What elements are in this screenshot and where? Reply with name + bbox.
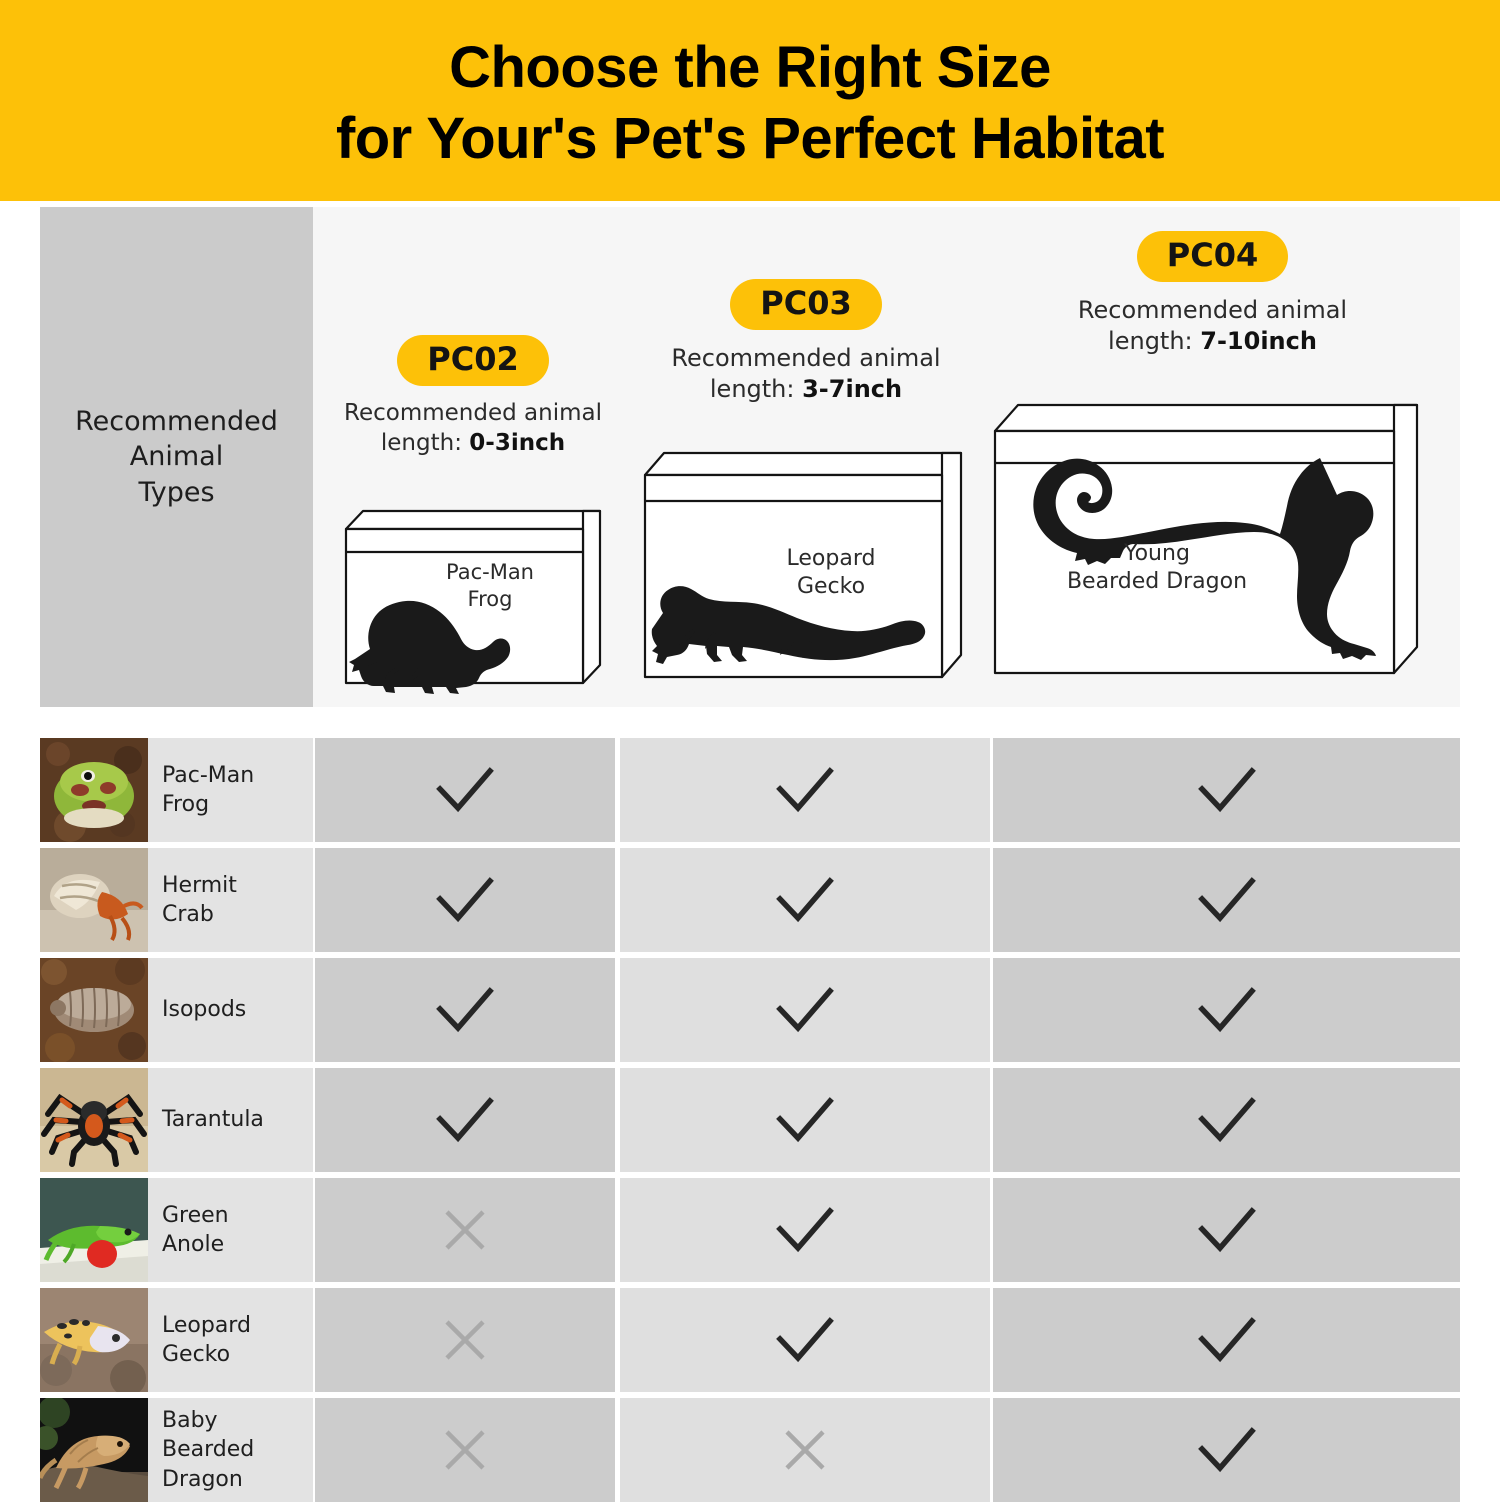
compat-cell-pc03: [620, 738, 990, 842]
table-row: GreenAnole: [0, 1178, 1500, 1282]
compat-cell-pc03: [620, 1178, 990, 1282]
tank-animal-name-line1-pc04: Young: [1123, 541, 1190, 566]
tarantula-photo: [40, 1068, 148, 1172]
animal-name-cell: Baby BeardedDragon: [148, 1398, 313, 1502]
pacman-frog-photo: [40, 738, 148, 842]
animal-name-cell: HermitCrab: [148, 848, 313, 952]
check-icon: [1196, 1425, 1258, 1475]
animal-name-line1: Hermit: [162, 873, 237, 898]
compat-cell-pc02: [315, 958, 615, 1062]
animal-name-line2: Anole: [162, 1232, 224, 1257]
check-icon: [1196, 765, 1258, 815]
tank-animal-name-line2-pc04: Bearded Dragon: [1067, 569, 1247, 594]
rec-prefix-pc02: Recommended animal: [328, 399, 618, 429]
tank-animal-name-line2-pc03: Gecko: [797, 574, 865, 599]
check-icon: [1196, 1315, 1258, 1365]
tank-animal-name-line1-pc03: Leopard: [787, 546, 876, 571]
cross-icon: [440, 1425, 490, 1475]
product-badge-pc04: PC04: [1137, 231, 1288, 282]
compat-cell-pc03: [620, 1288, 990, 1392]
animal-name-line2: Gecko: [162, 1342, 230, 1367]
compat-cell-pc02: [315, 1398, 615, 1502]
animal-name-line1: Baby Bearded: [162, 1408, 254, 1462]
check-icon: [434, 985, 496, 1035]
table-row: Pac-ManFrog: [0, 738, 1500, 842]
rec-prefix-pc04: Recommended animal: [985, 295, 1440, 326]
check-icon: [434, 765, 496, 815]
animal-name-line1: Tarantula: [162, 1107, 264, 1132]
animal-name-line1: Pac-Man: [162, 763, 254, 788]
animal-name-label: Isopods: [162, 995, 246, 1024]
tank-illustration-pc04: Young Bearded Dragon: [985, 375, 1440, 703]
tank-animal-name-line2-pc02: Frog: [468, 587, 513, 611]
product-recommendation-pc02: Recommended animal length: 0-3inch: [328, 399, 618, 459]
tank-illustration-pc03: Leopard Gecko: [631, 423, 981, 705]
rec-value-pc03: 3-7inch: [802, 375, 902, 403]
leopard-gecko-photo: [40, 1288, 148, 1392]
product-illustrations-panel: PC02 Recommended animal length: 0-3inch: [313, 207, 1460, 707]
check-icon: [774, 985, 836, 1035]
cross-icon: [440, 1315, 490, 1365]
cross-icon: [780, 1425, 830, 1475]
animal-name-cell: LeopardGecko: [148, 1288, 313, 1392]
baby-bearded-dragon-photo: [40, 1398, 148, 1502]
animal-name-label: Pac-ManFrog: [162, 761, 254, 820]
rec-value-pc02: 0-3inch: [469, 430, 565, 456]
animal-name-line2: Dragon: [162, 1467, 243, 1492]
check-icon: [774, 1315, 836, 1365]
animal-name-line2: Crab: [162, 902, 214, 927]
green-anole-photo: [40, 1178, 148, 1282]
table-row: HermitCrab: [0, 848, 1500, 952]
compat-cell-pc02: [315, 1068, 615, 1172]
compat-cell-pc03: [620, 1068, 990, 1172]
check-icon: [774, 875, 836, 925]
animal-name-cell: Tarantula: [148, 1068, 313, 1172]
animal-name-label: GreenAnole: [162, 1201, 229, 1260]
banner-title-line-2: for Your's Pet's Perfect Habitat: [336, 104, 1164, 175]
compat-cell-pc03: [620, 1398, 990, 1502]
banner-title-line-1: Choose the Right Size: [449, 33, 1051, 104]
animal-name-line1: Leopard: [162, 1313, 251, 1338]
animal-name-cell: Pac-ManFrog: [148, 738, 313, 842]
product-recommendation-pc03: Recommended animal length: 3-7inch: [631, 343, 981, 405]
check-icon: [1196, 1205, 1258, 1255]
table-row: LeopardGecko: [0, 1288, 1500, 1392]
cross-icon: [440, 1205, 490, 1255]
header-label-line-2: Animal: [75, 439, 278, 475]
table-row: Baby BeardedDragon: [0, 1398, 1500, 1502]
compat-cell-pc04: [993, 958, 1460, 1062]
tank-illustration-pc02: Pac-Man Frog: [328, 477, 618, 709]
product-recommendation-pc04: Recommended animal length: 7-10inch: [985, 295, 1440, 357]
recommended-animal-types-header: Recommended Animal Types: [40, 207, 313, 707]
compat-cell-pc02: [315, 1288, 615, 1392]
check-icon: [434, 875, 496, 925]
compat-cell-pc02: [315, 1178, 615, 1282]
animal-name-line2: Frog: [162, 792, 209, 817]
compat-cell-pc03: [620, 958, 990, 1062]
check-icon: [774, 1205, 836, 1255]
product-badge-pc02: PC02: [397, 335, 548, 386]
recommended-animal-types-label: Recommended Animal Types: [75, 404, 278, 511]
product-column-pc02[interactable]: PC02 Recommended animal length: 0-3inch: [328, 335, 618, 709]
compat-cell-pc04: [993, 1178, 1460, 1282]
page-banner: Choose the Right Size for Your's Pet's P…: [0, 0, 1500, 201]
product-comparison-header: Recommended Animal Types PC02 Recommende…: [0, 201, 1500, 707]
isopod-photo: [40, 958, 148, 1062]
table-row: Tarantula: [0, 1068, 1500, 1172]
check-icon: [774, 1095, 836, 1145]
compat-cell-pc02: [315, 738, 615, 842]
check-icon: [1196, 1095, 1258, 1145]
animal-name-label: Tarantula: [162, 1105, 264, 1134]
rec-prefix-pc03: Recommended animal: [631, 343, 981, 374]
product-column-pc03[interactable]: PC03 Recommended animal length: 3-7inch: [631, 279, 981, 705]
product-column-pc04[interactable]: PC04 Recommended animal length: 7-10inch: [985, 231, 1440, 703]
table-row: Isopods: [0, 958, 1500, 1062]
check-icon: [774, 765, 836, 815]
animal-name-cell: GreenAnole: [148, 1178, 313, 1282]
check-icon: [1196, 985, 1258, 1035]
animal-name-label: Baby BeardedDragon: [162, 1406, 313, 1494]
product-badge-pc03: PC03: [730, 279, 881, 330]
animal-name-line1: Green: [162, 1203, 229, 1228]
compat-cell-pc04: [993, 738, 1460, 842]
compat-cell-pc04: [993, 1288, 1460, 1392]
compat-cell-pc03: [620, 848, 990, 952]
rec-label-pc02: length:: [381, 430, 469, 456]
compat-cell-pc04: [993, 848, 1460, 952]
check-icon: [1196, 875, 1258, 925]
check-icon: [434, 1095, 496, 1145]
compat-cell-pc04: [993, 1068, 1460, 1172]
compat-cell-pc02: [315, 848, 615, 952]
animal-name-label: LeopardGecko: [162, 1311, 251, 1370]
animal-name-line1: Isopods: [162, 997, 246, 1022]
compat-cell-pc04: [993, 1398, 1460, 1502]
rec-value-pc04: 7-10inch: [1200, 327, 1317, 355]
compatibility-table: Pac-ManFrog HermitCrab Isopods: [0, 738, 1500, 1508]
rec-label-pc03: length:: [710, 375, 802, 403]
rec-label-pc04: length:: [1108, 327, 1200, 355]
header-label-line-3: Types: [75, 475, 278, 511]
header-label-line-1: Recommended: [75, 404, 278, 440]
animal-name-label: HermitCrab: [162, 871, 237, 930]
hermit-crab-photo: [40, 848, 148, 952]
animal-name-cell: Isopods: [148, 958, 313, 1062]
